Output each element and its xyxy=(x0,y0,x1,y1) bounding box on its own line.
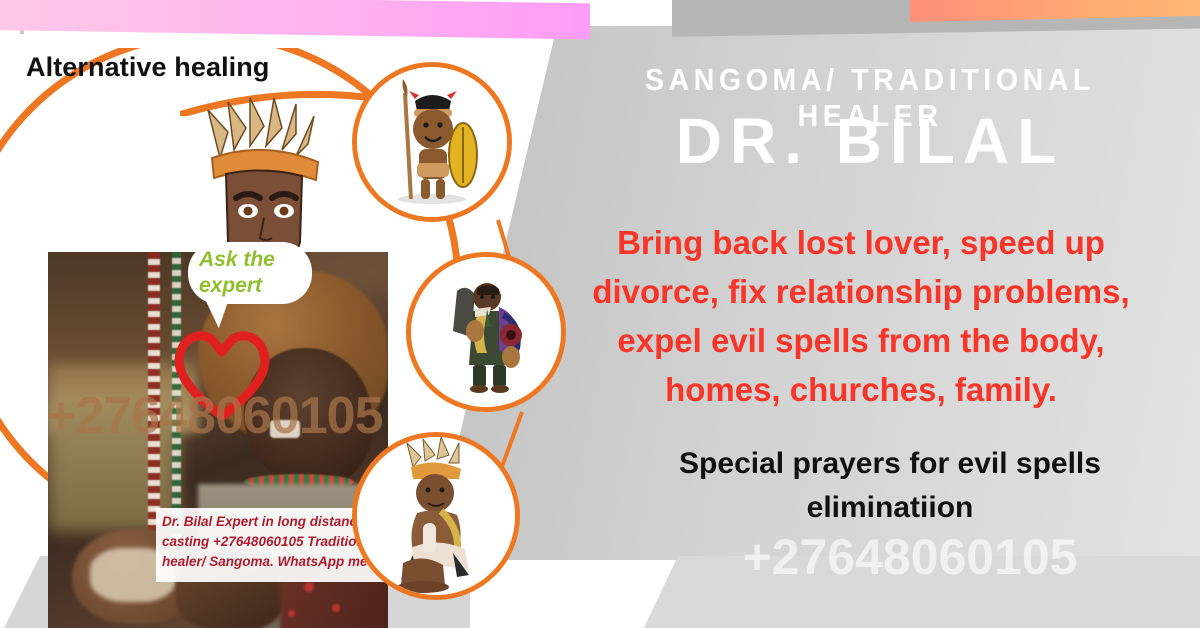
services-line-4: homes, churches, family. xyxy=(536,365,1186,414)
services-line-1: Bring back lost lover, speed up xyxy=(536,218,1186,267)
panel-watermark-phone: +27648060105 xyxy=(640,528,1180,586)
services-line-3: expel evil spells from the body, xyxy=(536,316,1186,365)
prayers-text: Special prayers for evil spells eliminat… xyxy=(600,442,1180,530)
speech-bubble-text: Ask the expert xyxy=(199,247,317,299)
page-title: Alternative healing xyxy=(26,52,269,83)
top-pink-bar xyxy=(0,0,590,39)
circle-image-cartoon-warrior xyxy=(352,62,512,222)
prayers-line-1: Special prayers for evil spells xyxy=(600,442,1180,486)
circle-image-crouching-dancer xyxy=(352,432,520,600)
services-line-2: divorce, fix relationship problems, xyxy=(536,267,1186,316)
services-text: Bring back lost lover, speed up divorce,… xyxy=(536,218,1186,414)
photo-watermark-phone: +27648060105 xyxy=(46,386,446,446)
prayers-line-2: eliminatiion xyxy=(600,486,1180,530)
healer-name: DR. BILAL xyxy=(560,105,1180,177)
poster-canvas: + Alternative healing xyxy=(0,0,1200,628)
